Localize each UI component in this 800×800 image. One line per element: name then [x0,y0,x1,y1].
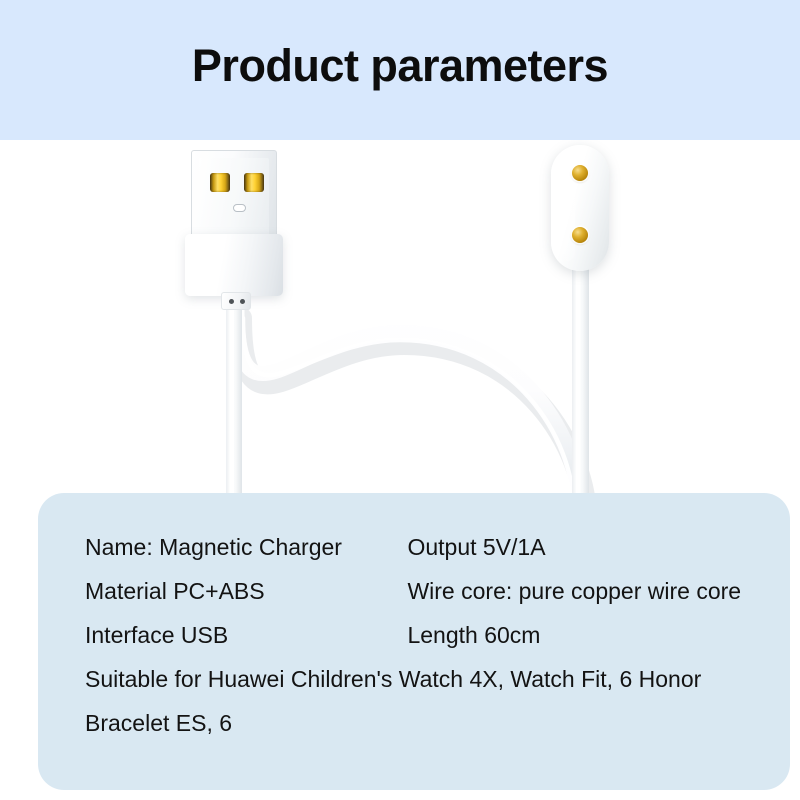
magnet-pogo-pin-1 [572,165,588,181]
product-parameters-page: Product parameters [0,0,800,800]
spec-list: Name: Magnetic Charger Output 5V/1A Mate… [85,525,785,745]
spec-row: Bracelet ES, 6 [85,701,785,745]
usb-plastic-housing [185,234,283,296]
usb-a-connector [185,150,283,300]
spec-length: Length 60cm [407,613,787,657]
spec-compatibility-line-1: Suitable for Huawei Children's Watch 4X,… [85,657,785,701]
usb-gold-contact-right [244,173,264,192]
cable-usb-lead-highlight [230,292,235,498]
spec-compatibility-line-2: Bracelet ES, 6 [85,701,785,745]
usb-shell-inner [199,158,269,236]
usb-housing-highlight [195,239,215,291]
usb-metal-shell [191,150,277,236]
cable-magnet-lead-highlight [576,264,581,500]
spec-row: Name: Magnetic Charger Output 5V/1A [85,525,785,569]
spec-panel: Name: Magnetic Charger Output 5V/1A Mate… [38,493,790,790]
spec-row: Material PC+ABS Wire core: pure copper w… [85,569,785,613]
spec-wire-core: Wire core: pure copper wire core [407,569,787,613]
strain-relief-dot-2 [240,299,245,304]
page-title: Product parameters [0,38,800,94]
magnet-housing [551,145,609,271]
usb-strain-relief [221,292,251,310]
spec-name: Name: Magnetic Charger [85,525,403,569]
spec-interface: Interface USB [85,613,403,657]
usb-gold-contact-left [210,173,230,192]
cable-shadow [241,318,586,520]
usb-shell-hole [233,204,246,212]
spec-row: Suitable for Huawei Children's Watch 4X,… [85,657,785,701]
strain-relief-dot-1 [229,299,234,304]
spec-material: Material PC+ABS [85,569,403,613]
header-band: Product parameters [0,0,800,140]
spec-row: Interface USB Length 60cm [85,613,785,657]
magnet-pogo-pin-2 [572,227,588,243]
spec-output: Output 5V/1A [407,525,787,569]
magnetic-charging-puck [551,145,611,295]
